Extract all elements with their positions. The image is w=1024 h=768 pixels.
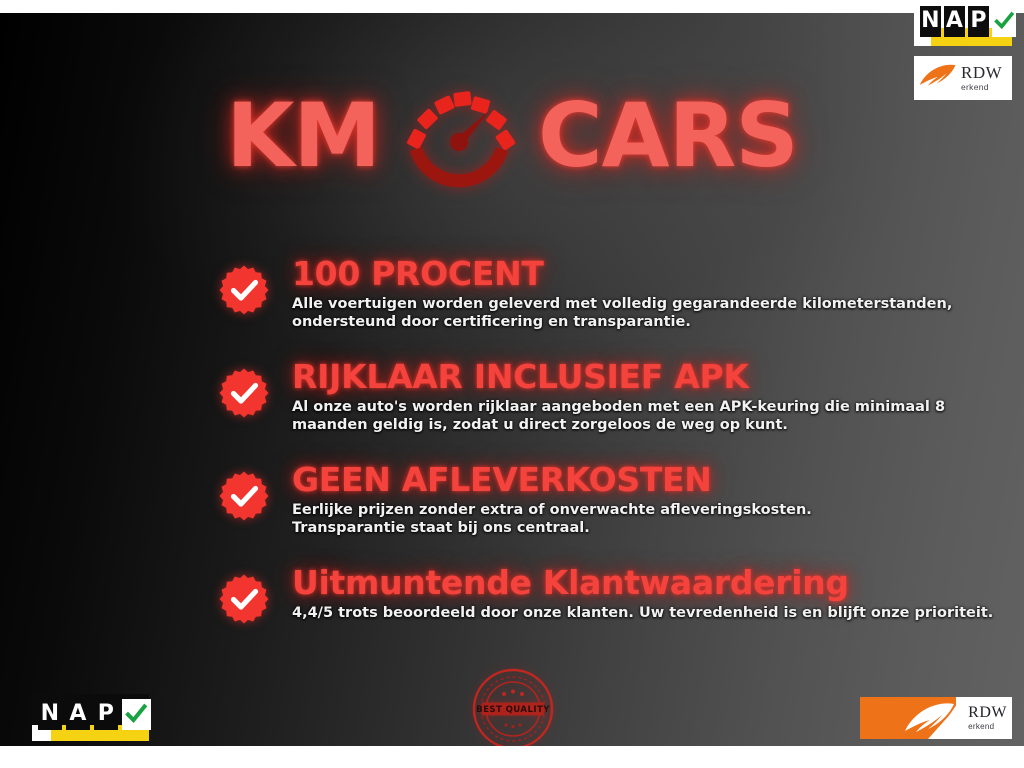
feature-description: Eerlijke prijzen zonder extra of onverwa… [292, 501, 1008, 538]
nap-letter-p: P [94, 699, 118, 730]
dark-gradient-panel: KM CARS [0, 13, 1024, 746]
feature-item: RIJKLAAR INCLUSIEF APK Al onze auto's wo… [218, 359, 1008, 434]
nap-letters: N A P [38, 699, 151, 730]
feature-title: Uitmuntende Klantwaardering [292, 565, 1008, 601]
verified-check-badge-icon [218, 573, 270, 625]
promo-banner: KM CARS [0, 0, 1024, 768]
feature-item: Uitmuntende Klantwaardering 4,4/5 trots … [218, 565, 1008, 625]
feature-item: 100 PROCENT Alle voertuigen worden gelev… [218, 256, 1008, 331]
feature-title: RIJKLAAR INCLUSIEF APK [292, 359, 1008, 395]
rdw-wordmark: RDW erkend [968, 705, 1007, 731]
verified-check-badge-icon [218, 264, 270, 316]
brand-logo: KM CARS [0, 71, 1024, 201]
verified-check-badge-icon [218, 367, 270, 419]
speedometer-icon [398, 80, 520, 198]
rdw-badge-top: RDW erkend [914, 56, 1012, 100]
feature-description: 4,4/5 trots beoordeeld door onze klanten… [292, 604, 1008, 622]
rdw-name: RDW [961, 64, 1002, 81]
green-check-icon [122, 699, 151, 730]
nap-letter-p: P [968, 6, 989, 38]
verified-check-badge-icon [218, 470, 270, 522]
feature-list: 100 PROCENT Alle voertuigen worden gelev… [218, 256, 1008, 625]
best-quality-seal-icon: BEST QUALITY [470, 668, 556, 746]
nap-letter-n: N [38, 699, 62, 730]
nap-letters: N A P [920, 6, 1016, 38]
quality-seal-text: BEST QUALITY [476, 705, 550, 715]
rdw-name: RDW [968, 705, 1007, 721]
rdw-subtitle: erkend [961, 83, 1002, 92]
feature-item: GEEN AFLEVERKOSTEN Eerlijke prijzen zond… [218, 462, 1008, 537]
brand-name-cars: CARS [538, 92, 798, 180]
feature-title: 100 PROCENT [292, 256, 1008, 292]
green-check-icon [992, 6, 1016, 38]
nap-badge-top: N A P [914, 2, 1012, 46]
feature-title: GEEN AFLEVERKOSTEN [292, 462, 1008, 498]
nap-badge-bottom: N A P [32, 694, 149, 741]
brand-name-km: KM [226, 92, 380, 180]
nap-letter-a: A [944, 6, 965, 38]
rdw-badge-bottom: RDW erkend [860, 697, 1012, 739]
nap-letter-a: A [66, 699, 90, 730]
feature-description: Al onze auto's worden rijklaar aangebode… [292, 398, 1008, 435]
nap-letter-n: N [920, 6, 941, 38]
feature-description: Alle voertuigen worden geleverd met voll… [292, 295, 1008, 332]
rdw-subtitle: erkend [968, 723, 1007, 731]
rdw-feather-icon [919, 63, 957, 93]
rdw-wordmark: RDW erkend [961, 64, 1002, 92]
